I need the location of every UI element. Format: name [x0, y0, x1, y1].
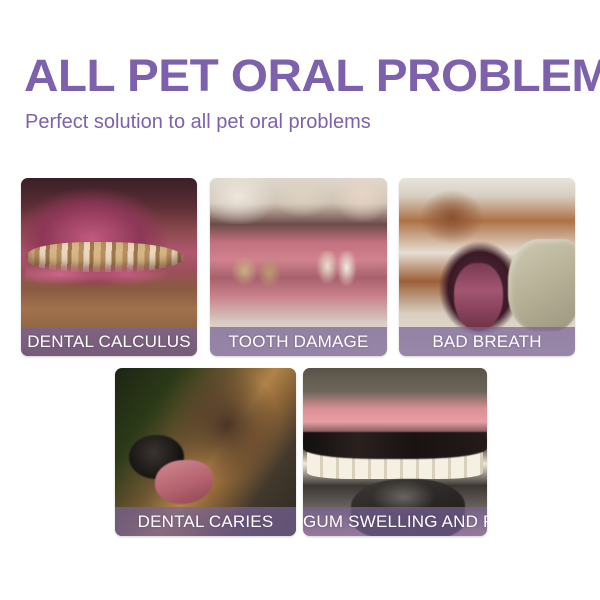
- tile-dental-calculus[interactable]: DENTAL CALCULUS: [21, 178, 197, 356]
- tile-caption-dental-calculus: DENTAL CALCULUS: [21, 327, 197, 356]
- page-title: ALL PET ORAL PROBLEMS: [24, 53, 600, 99]
- tile-caption-tooth-damage: TOOTH DAMAGE: [210, 327, 387, 356]
- infographic-page: ALL PET ORAL PROBLEMS Perfect solution t…: [0, 0, 600, 600]
- tile-tooth-damage[interactable]: TOOTH DAMAGE: [210, 178, 387, 356]
- tile-caption-bad-breath: BAD BREATH: [399, 327, 575, 356]
- page-subtitle: Perfect solution to all pet oral problem…: [25, 110, 371, 134]
- tile-dental-caries[interactable]: DENTAL CARIES: [115, 368, 296, 536]
- tile-gum-swelling[interactable]: GUM SWELLING AND PAIN: [303, 368, 487, 536]
- tile-caption-dental-caries: DENTAL CARIES: [115, 507, 296, 536]
- tile-bad-breath[interactable]: BAD BREATH: [399, 178, 575, 356]
- tile-caption-gum-swelling: GUM SWELLING AND PAIN: [303, 507, 487, 536]
